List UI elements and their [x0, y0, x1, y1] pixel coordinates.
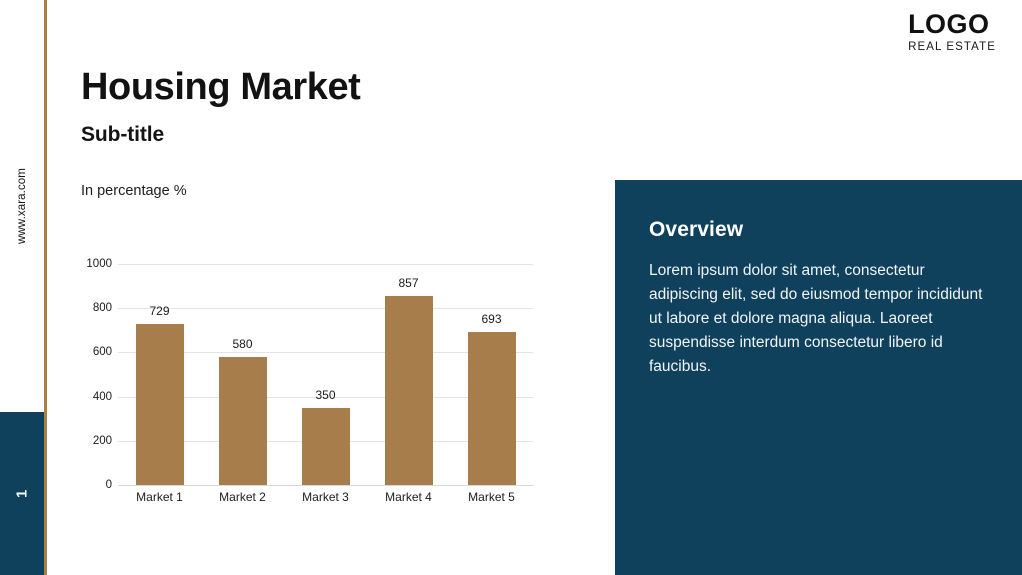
y-axis-tick-label: 400 [72, 391, 112, 403]
x-axis-tick-label: Market 1 [114, 490, 206, 504]
overview-title: Overview [649, 218, 989, 242]
site-url-label: www.xara.com [0, 0, 44, 412]
chart-bar[interactable] [385, 296, 433, 485]
chart-bar[interactable] [468, 332, 516, 485]
logo: LOGO REAL ESTATE [908, 11, 996, 54]
x-axis-tick-label: Market 3 [280, 490, 372, 504]
slide-canvas: www.xara.com 1 LOGO REAL ESTATE Housing … [0, 0, 1022, 575]
y-axis-tick-label: 800 [72, 302, 112, 314]
y-axis-tick-label: 600 [72, 346, 112, 358]
page-title: Housing Market [81, 68, 360, 108]
logo-main-text: LOGO [908, 11, 996, 38]
y-axis-tick-label: 1000 [72, 258, 112, 270]
chart-bar[interactable] [136, 324, 184, 485]
x-axis-tick-label: Market 5 [446, 490, 538, 504]
chart-gridline [118, 264, 533, 265]
y-axis-tick-label: 200 [72, 435, 112, 447]
bar-value-label: 350 [291, 388, 361, 402]
overview-panel: Overview Lorem ipsum dolor sit amet, con… [615, 180, 1022, 575]
bar-value-label: 857 [374, 276, 444, 290]
y-axis-tick-label: 0 [72, 479, 112, 491]
page-subtitle: Sub-title [81, 123, 164, 147]
chart-plot-area [118, 264, 533, 485]
x-axis-tick-label: Market 2 [197, 490, 289, 504]
overview-body-text: Lorem ipsum dolor sit amet, consectetur … [649, 259, 989, 379]
bar-value-label: 693 [457, 312, 527, 326]
gold-divider-line [44, 0, 47, 575]
x-axis-tick-label: Market 4 [363, 490, 455, 504]
logo-sub-text: REAL ESTATE [908, 42, 996, 54]
chart-gridline [118, 485, 533, 486]
chart-bar[interactable] [302, 408, 350, 485]
left-rail: www.xara.com 1 [0, 0, 44, 575]
bar-value-label: 729 [125, 304, 195, 318]
chart-caption: In percentage % [81, 183, 187, 199]
bar-value-label: 580 [208, 337, 278, 351]
chart-bar[interactable] [219, 357, 267, 485]
bar-chart: 02004006008001000729Market 1580Market 23… [72, 252, 547, 517]
page-number-label: 1 [0, 412, 44, 575]
